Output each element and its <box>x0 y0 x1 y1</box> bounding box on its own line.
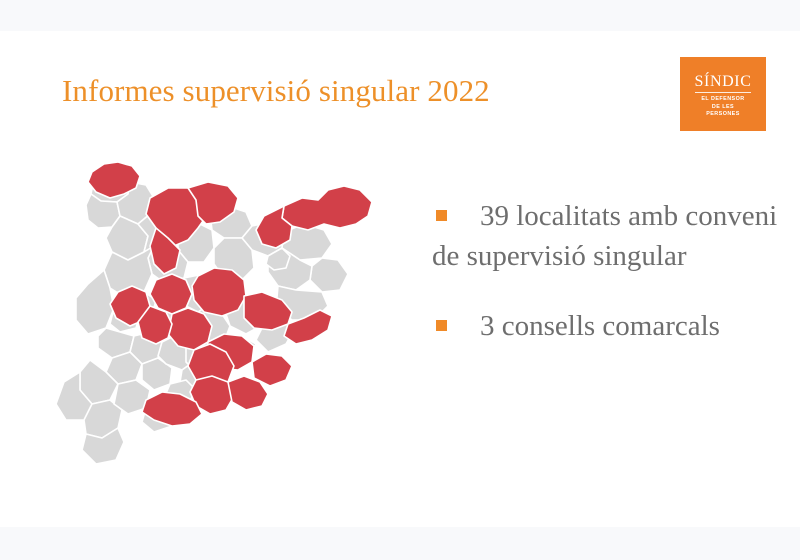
top-band <box>0 0 800 31</box>
slide-canvas: Informes supervisió singular 2022 SÍNDIC… <box>0 0 800 560</box>
bullet-text-1: 39 localitats amb conveni de supervisió … <box>432 196 784 276</box>
sindic-logo: SÍNDIC EL DEFENSOR DE LES PERSONES <box>680 57 766 131</box>
list-item: 39 localitats amb conveni de supervisió … <box>432 196 784 276</box>
logo-subtitle-line-1: EL DEFENSOR <box>701 96 744 103</box>
logo-subtitle-line-3: PERSONES <box>706 111 740 118</box>
logo-divider <box>695 92 751 93</box>
logo-wordmark: SÍNDIC <box>695 73 752 90</box>
orange-square-icon <box>436 210 447 221</box>
list-item: 3 consells comarcals <box>432 306 784 346</box>
map-svg <box>38 128 428 494</box>
catalonia-comarques-map <box>38 128 428 494</box>
region-baix-emporda <box>310 258 348 292</box>
page-title: Informes supervisió singular 2022 <box>62 72 490 110</box>
logo-subtitle-line-2: DE LES <box>712 104 734 111</box>
bottom-band <box>0 527 800 560</box>
bullet-list: 39 localitats amb conveni de supervisió … <box>432 196 784 346</box>
orange-square-icon <box>436 320 447 331</box>
bullet-text-2: 3 consells comarcals <box>432 306 784 346</box>
highlight-ripolles <box>282 186 372 230</box>
